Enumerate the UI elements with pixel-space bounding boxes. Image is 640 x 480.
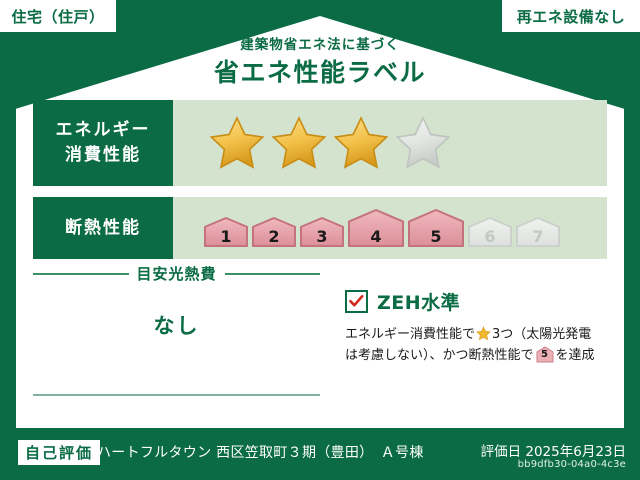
zeh-title: ZEH水準 [377,288,460,315]
insulation-level-label: 2 [251,227,297,246]
evaluation-date-value: 2025年6月23日 [525,444,626,460]
renewable-energy-tag: 再エネ設備なし [502,0,640,32]
insulation-level-3: 3 [299,216,345,248]
star-empty-icon [395,115,451,171]
insulation-level-label: 1 [203,227,249,246]
utility-cost-rule-left [33,273,129,275]
label-footer: 自己評価 ハートフルタウン 西区笠取町３期（豊田） Ａ号棟 評価日 2025年6… [0,432,640,480]
label-title-block: 建築物省エネ法に基づく 省エネ性能ラベル [0,36,640,88]
insulation-performance-key-label: 断熱性能 [65,216,141,241]
evaluation-id: bb9dfb30-04a0-4c3e [518,459,626,470]
insulation-level-5: 5 [407,208,465,248]
check-icon [349,295,364,308]
label-title: 省エネ性能ラベル [0,57,640,88]
zeh-desc-part3: を達成 [556,348,595,363]
zeh-desc-part1: エネルギー消費性能で [345,327,475,342]
star-icon [476,326,491,341]
zeh-checkbox[interactable] [345,290,368,313]
energy-performance-label: 住宅（住戸） 再エネ設備なし 建築物省エネ法に基づく 省エネ性能ラベル エネルギ… [0,0,640,480]
zeh-desc-level-chip: 5 [536,346,554,363]
star-filled-icon [209,115,265,171]
insulation-level-2: 2 [251,216,297,248]
utility-cost-heading-label: 目安光熱費 [137,263,217,284]
insulation-level-1: 1 [203,216,249,248]
utility-cost-value: なし [33,310,320,340]
evaluation-date-label: 評価日 [481,444,522,460]
renewable-energy-tag-label: 再エネ設備なし [517,6,626,27]
zeh-heading: ZEH水準 [345,288,607,315]
insulation-level-scale: 1234567 [173,208,561,248]
evaluation-date: 評価日 2025年6月23日 [481,440,626,460]
utility-cost-heading: 目安光熱費 [33,263,320,284]
insulation-level-label: 5 [407,227,465,246]
insulation-performance-key: 断熱性能 [33,197,173,259]
star-filled-icon [271,115,327,171]
utility-cost-block: 目安光熱費 なし [33,263,320,340]
energy-performance-key-line1: エネルギー [56,118,151,143]
zeh-block: ZEH水準 エネルギー消費性能で3つ（太陽光発電は考慮しない）、かつ断熱性能で5… [345,288,607,367]
building-type-tag: 住宅（住戸） [0,0,116,32]
insulation-performance-value: 1234567 [173,197,607,259]
zeh-desc-star-count: 3つ（太陽光発電 [492,327,591,342]
energy-performance-key: エネルギー 消費性能 [33,100,173,186]
zeh-desc-part2: は考慮しない）、かつ断熱性能で [345,348,534,363]
utility-cost-rule-right [225,273,321,275]
insulation-level-7: 7 [515,216,561,248]
utility-cost-bottom-rule [33,394,320,396]
star-filled-icon [333,115,389,171]
label-subtitle: 建築物省エネ法に基づく [0,36,640,55]
insulation-level-label: 7 [515,227,561,246]
project-name: ハートフルタウン 西区笠取町３期（豊田） Ａ号棟 [97,442,424,462]
evaluation-type-badge: 自己評価 [18,440,100,465]
insulation-performance-row: 断熱性能 1234567 [33,197,607,259]
energy-performance-key-line2: 消費性能 [65,143,141,168]
insulation-level-label: 4 [347,227,405,246]
insulation-level-label: 6 [467,227,513,246]
star-rating [173,115,451,171]
energy-performance-value [173,100,607,186]
insulation-level-4: 4 [347,208,405,248]
building-type-tag-label: 住宅（住戸） [11,6,104,27]
zeh-description: エネルギー消費性能で3つ（太陽光発電は考慮しない）、かつ断熱性能で5を達成 [345,324,607,367]
energy-performance-row: エネルギー 消費性能 [33,100,607,186]
insulation-level-label: 3 [299,227,345,246]
zeh-desc-level-value: 5 [536,347,554,364]
insulation-level-6: 6 [467,216,513,248]
